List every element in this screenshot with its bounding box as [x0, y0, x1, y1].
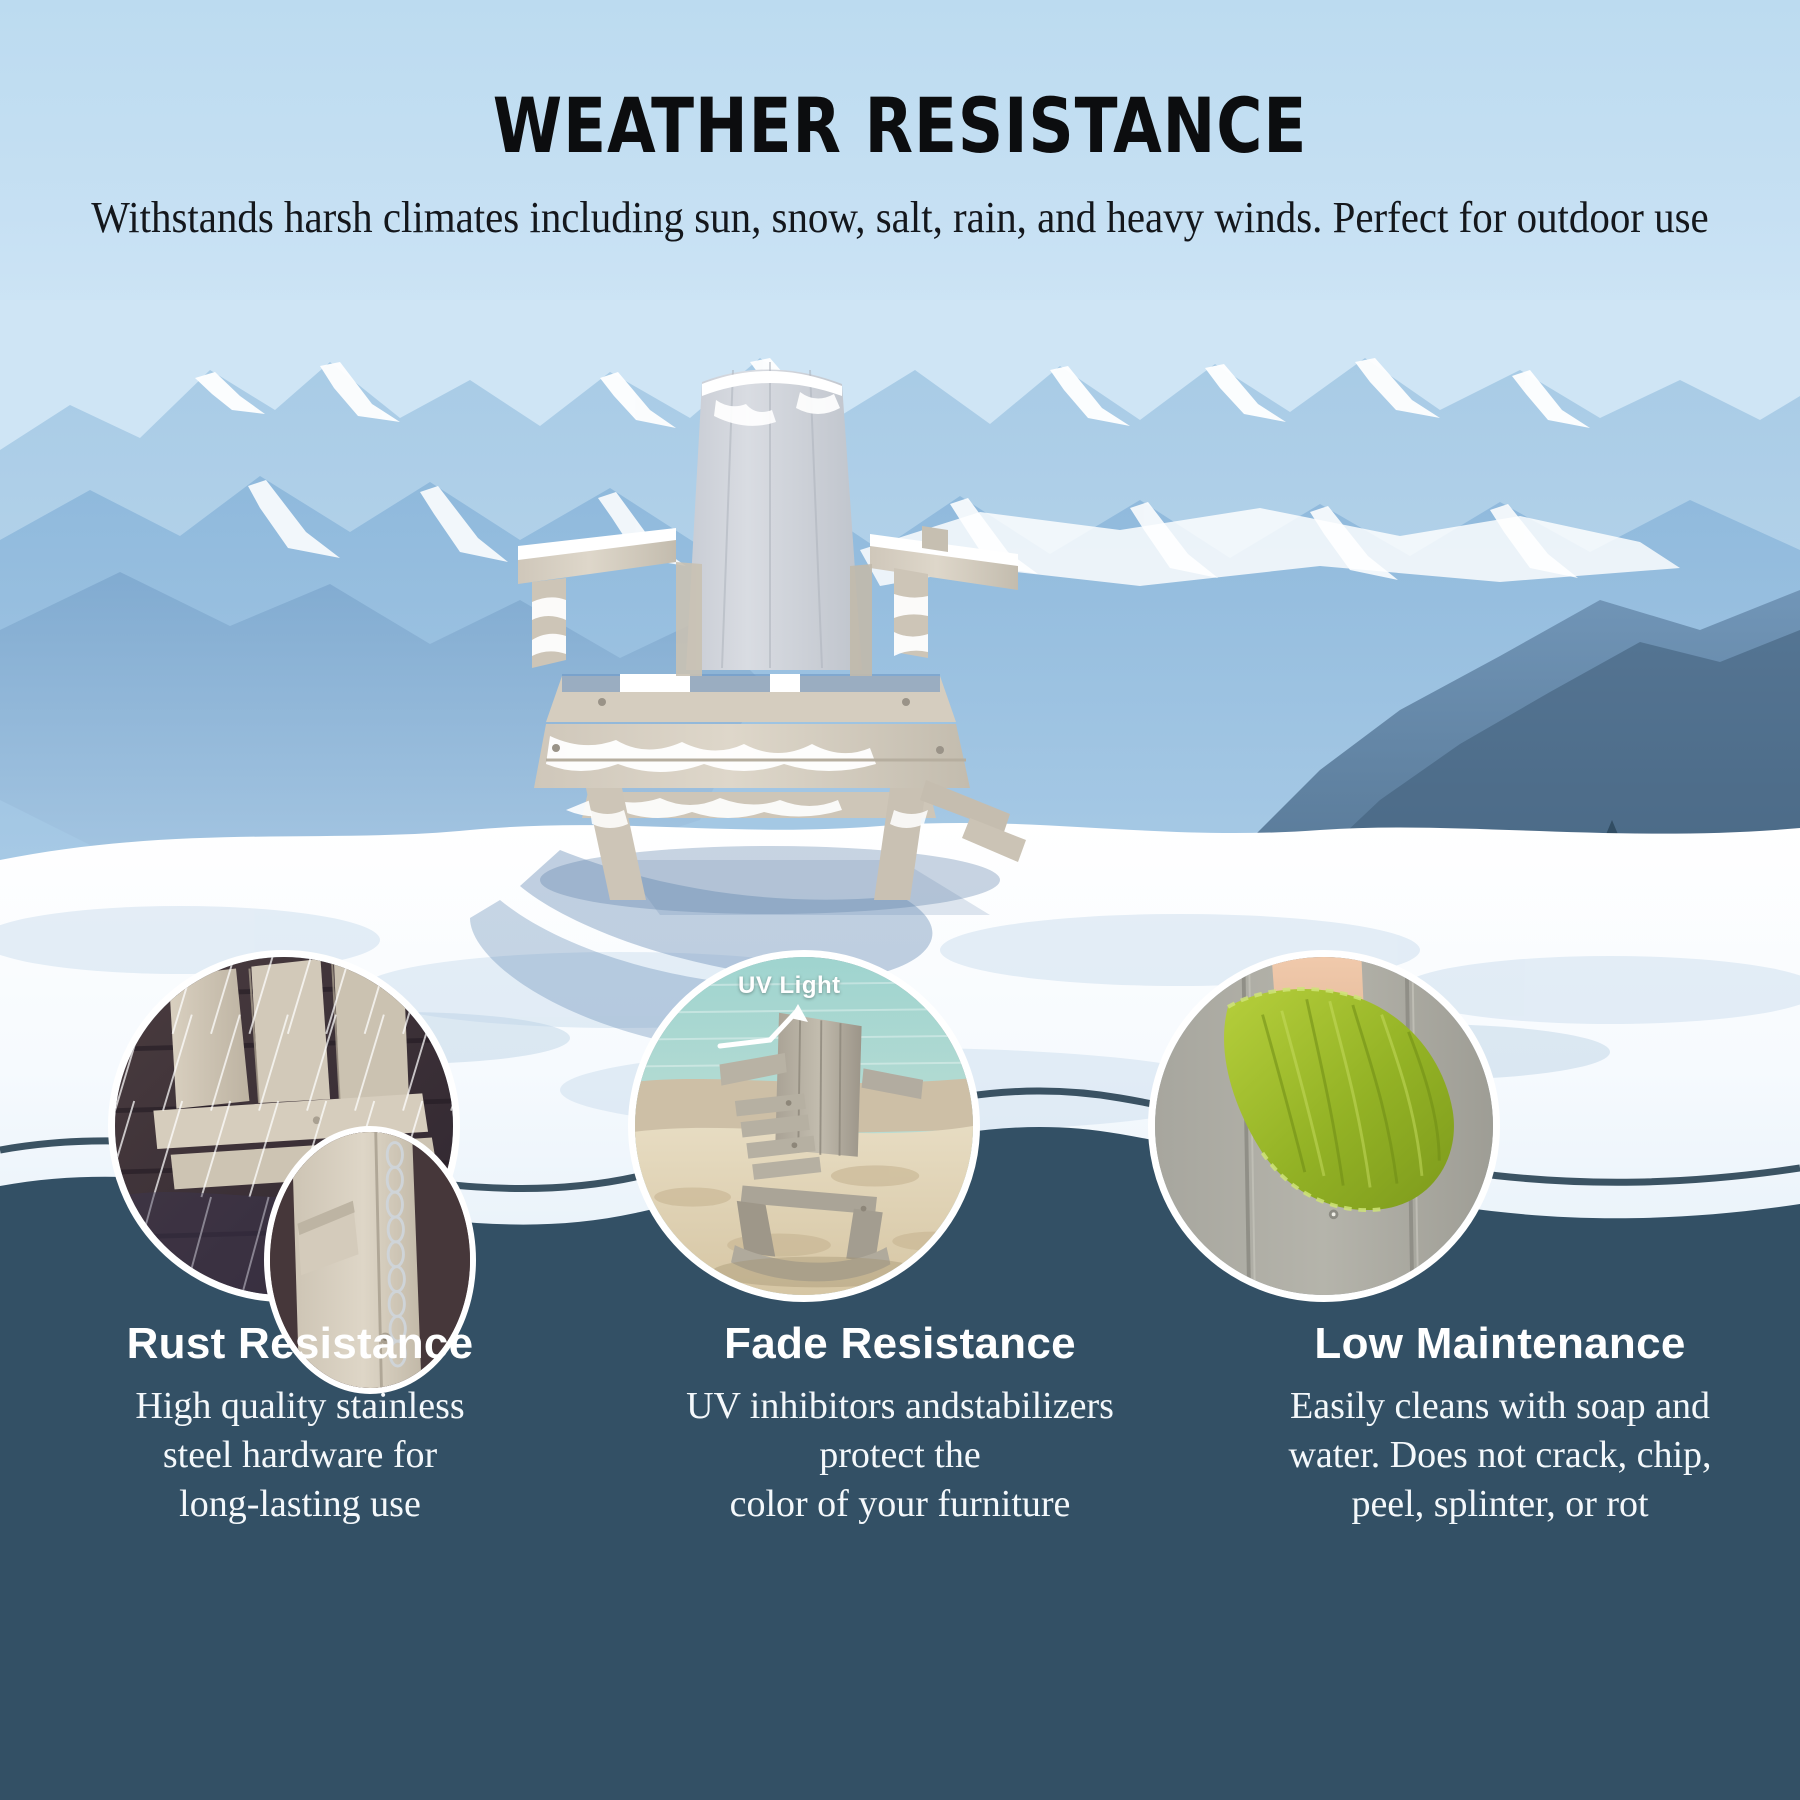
header-block: WEATHER RESISTANCE Withstands harsh clim…: [0, 0, 1800, 246]
feature-title: Rust Resistance: [28, 1320, 572, 1368]
feature-body: Easily cleans with soap and water. Does …: [1228, 1382, 1772, 1528]
page-subtitle: Withstands harsh climates including sun,…: [63, 164, 1737, 246]
page-title: WEATHER RESISTANCE: [72, 0, 1728, 164]
feature-fade-resistance: Fade Resistance UV inhibitors andstabili…: [600, 1320, 1200, 1740]
feature-low-maintenance: Low Maintenance Easily cleans with soap …: [1200, 1320, 1800, 1740]
feature-rust-resistance: Rust Resistance High quality stainless s…: [0, 1320, 600, 1740]
fade-resistance-image[interactable]: [628, 950, 980, 1302]
uv-light-label: UV Light: [738, 972, 841, 1000]
feature-body: UV inhibitors andstabilizers protect the…: [628, 1382, 1172, 1528]
feature-title: Fade Resistance: [628, 1320, 1172, 1368]
low-maintenance-image[interactable]: [1148, 950, 1500, 1302]
feature-list: Rust Resistance High quality stainless s…: [0, 1320, 1800, 1740]
feature-body: High quality stainless steel hardware fo…: [28, 1382, 572, 1528]
hero-adirondack-chair: [470, 340, 1070, 920]
feature-title: Low Maintenance: [1228, 1320, 1772, 1368]
infographic-canvas: UV Light WEATHER RESISTANCE Withstands h…: [0, 0, 1800, 1800]
